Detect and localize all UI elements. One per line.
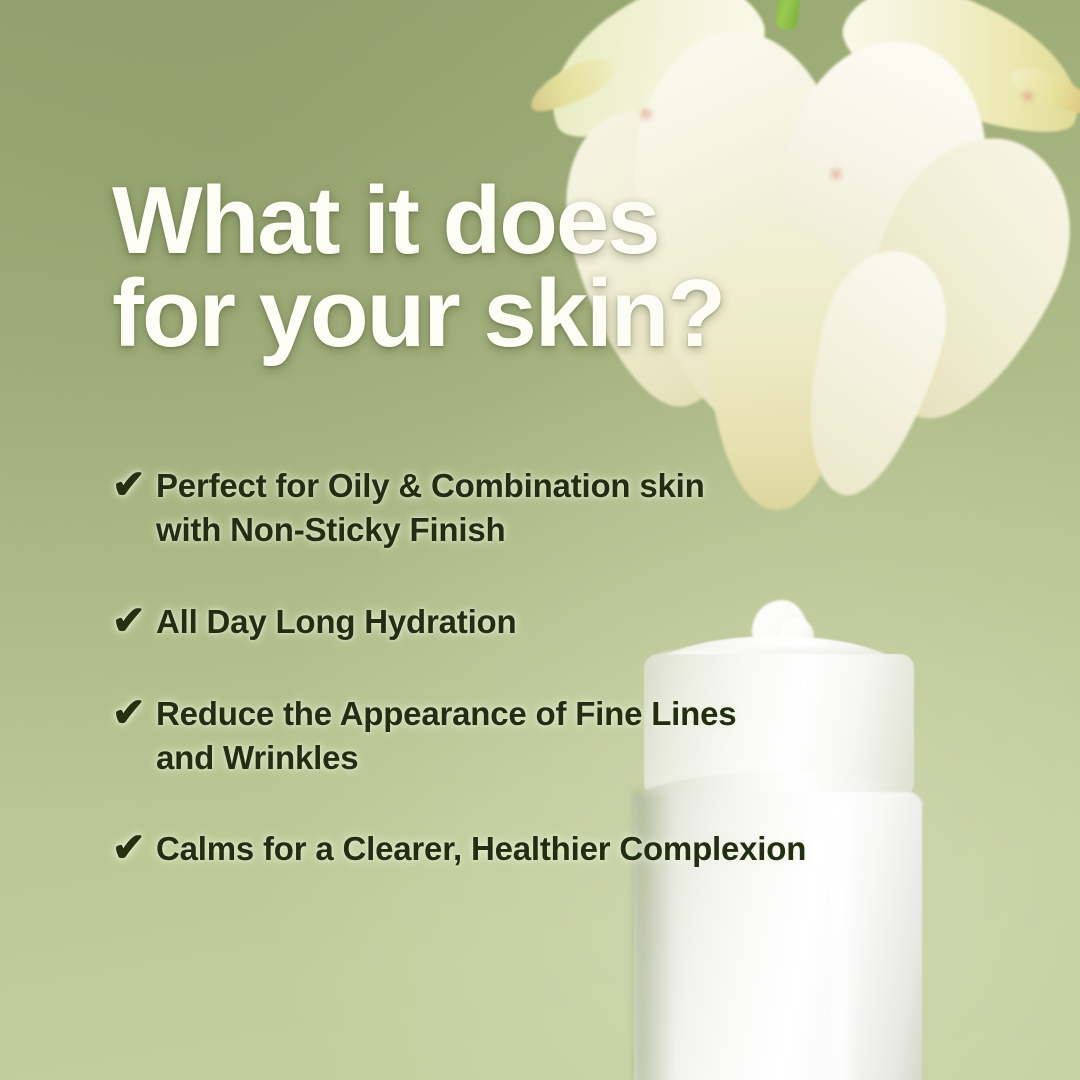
list-item: ✔ Perfect for Oily & Combination skin wi… [112, 464, 962, 552]
benefit-text: Calms for a Clearer, Healthier Complexio… [156, 827, 806, 871]
benefit-line-1: Reduce the Appearance of Fine Lines [156, 692, 736, 736]
page-title: What it does for your skin? [112, 174, 812, 360]
petal-pink-tip-left [638, 106, 654, 122]
benefit-line-1: Calms for a Clearer, Healthier Complexio… [156, 827, 806, 871]
list-item: ✔ Reduce the Appearance of Fine Lines an… [112, 692, 962, 780]
petal-pink-tip-right [1020, 88, 1036, 104]
benefit-line-1: All Day Long Hydration [156, 600, 516, 644]
headline-line-1: What it does [112, 174, 812, 267]
list-item: ✔ Calms for a Clearer, Healthier Complex… [112, 827, 962, 871]
petal-pink-tip-center [828, 166, 844, 182]
list-item: ✔ All Day Long Hydration [112, 600, 962, 644]
promo-image-canvas: What it does for your skin? ✔ Perfect fo… [0, 0, 1080, 1080]
benefit-text: Reduce the Appearance of Fine Lines and … [156, 692, 736, 780]
check-icon: ✔ [112, 692, 156, 734]
check-icon: ✔ [112, 827, 156, 869]
headline-line-2: for your skin? [112, 267, 812, 360]
flower-stem [775, 0, 803, 31]
benefit-text: All Day Long Hydration [156, 600, 516, 644]
check-icon: ✔ [112, 600, 156, 642]
check-icon: ✔ [112, 464, 156, 506]
benefit-line-2: and Wrinkles [156, 736, 736, 780]
benefits-list: ✔ Perfect for Oily & Combination skin wi… [112, 464, 962, 871]
benefit-line-1: Perfect for Oily & Combination skin [156, 464, 705, 508]
benefit-text: Perfect for Oily & Combination skin with… [156, 464, 705, 552]
benefit-line-2: with Non-Sticky Finish [156, 508, 705, 552]
